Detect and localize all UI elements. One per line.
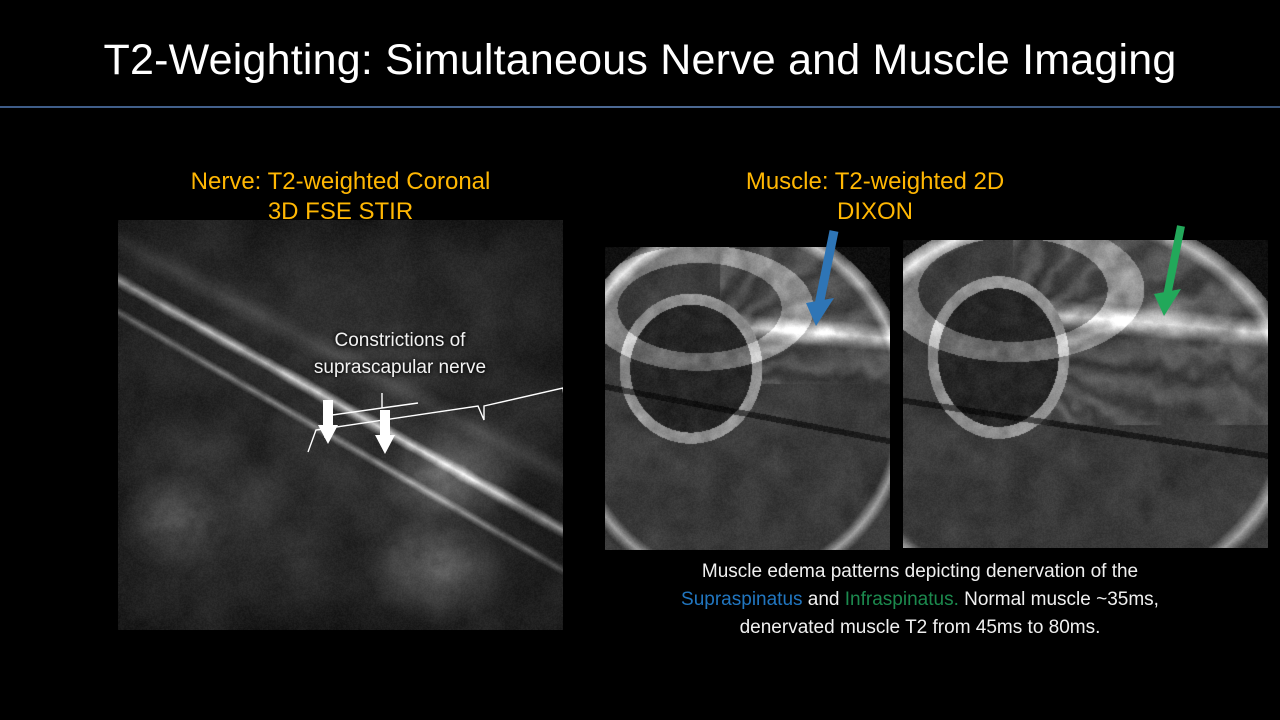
- mri-image-muscle-infraspinatus: [903, 240, 1268, 548]
- nerve-annotation-line1: Constrictions of: [335, 330, 466, 351]
- caption-keyword-infraspinatus: Infraspinatus.: [845, 589, 959, 610]
- nerve-annotation-text: Constrictions of suprascapular nerve: [255, 327, 545, 381]
- caption-block: Muscle edema patterns depicting denervat…: [620, 558, 1220, 642]
- section-header-nerve: Nerve: T2-weighted Coronal 3D FSE STIR: [118, 167, 563, 227]
- caption-line-3: denervated muscle T2 from 45ms to 80ms.: [620, 614, 1220, 642]
- caption-line-1: Muscle edema patterns depicting denervat…: [620, 558, 1220, 586]
- section-header-muscle: Muscle: T2-weighted 2D DIXON: [640, 167, 1110, 227]
- caption-line2-post: Normal muscle ~35ms,: [959, 589, 1159, 610]
- mri-image-muscle-supraspinatus: [605, 247, 890, 550]
- section-header-nerve-line1: Nerve: T2-weighted Coronal: [191, 168, 491, 195]
- caption-line2-mid: and: [803, 589, 845, 610]
- caption-line-2: Supraspinatus and Infraspinatus. Normal …: [620, 586, 1220, 614]
- mri-image-nerve-coronal-stir: [118, 220, 563, 630]
- caption-keyword-supraspinatus: Supraspinatus: [681, 589, 802, 610]
- nerve-annotation-line2: suprascapular nerve: [255, 354, 545, 381]
- title-divider: [0, 106, 1280, 108]
- section-header-muscle-line1: Muscle: T2-weighted 2D: [746, 168, 1004, 195]
- page-title: T2-Weighting: Simultaneous Nerve and Mus…: [0, 36, 1280, 85]
- slide-root: T2-Weighting: Simultaneous Nerve and Mus…: [0, 0, 1280, 720]
- section-header-muscle-line2: DIXON: [640, 197, 1110, 227]
